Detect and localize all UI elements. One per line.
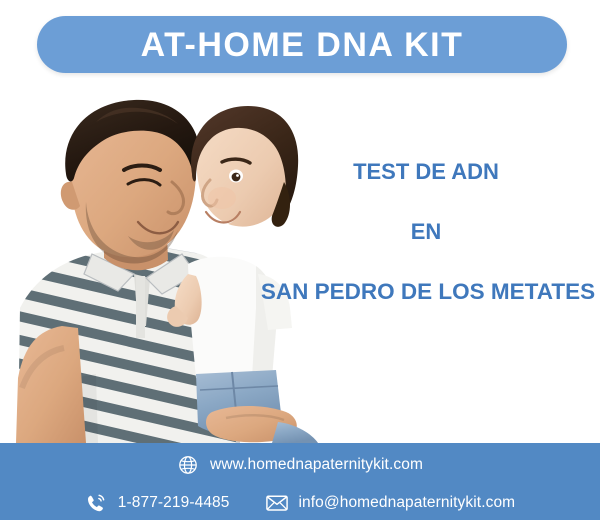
email-label: info@homednapaternitykit.com <box>299 494 516 512</box>
headline-line-3: SAN PEDRO DE LOS METATES <box>256 280 600 305</box>
footer-item-email[interactable]: info@homednapaternitykit.com <box>266 492 516 514</box>
envelope-icon <box>266 492 288 514</box>
website-label: www.homednapaternitykit.com <box>210 456 423 474</box>
footer-row-contact: 1-877-219-4485 info@homednapaternitykit.… <box>0 484 600 520</box>
footer-row-website: www.homednapaternitykit.com <box>0 443 600 484</box>
headline-line-1: TEST DE ADN <box>252 160 600 184</box>
footer-item-website[interactable]: www.homednapaternitykit.com <box>177 454 423 476</box>
globe-icon <box>177 454 199 476</box>
poster-canvas: AT-HOME DNA KIT <box>0 0 600 520</box>
footer-bar: www.homednapaternitykit.com 1-877-219-44… <box>0 443 600 520</box>
header-banner: AT-HOME DNA KIT <box>37 16 567 73</box>
phone-icon <box>85 492 107 514</box>
headline-block: TEST DE ADN EN SAN PEDRO DE LOS METATES <box>252 160 600 305</box>
headline-line-2: EN <box>252 220 600 244</box>
footer-item-phone[interactable]: 1-877-219-4485 <box>85 492 230 514</box>
phone-label: 1-877-219-4485 <box>118 494 230 512</box>
page-title: AT-HOME DNA KIT <box>141 28 464 62</box>
